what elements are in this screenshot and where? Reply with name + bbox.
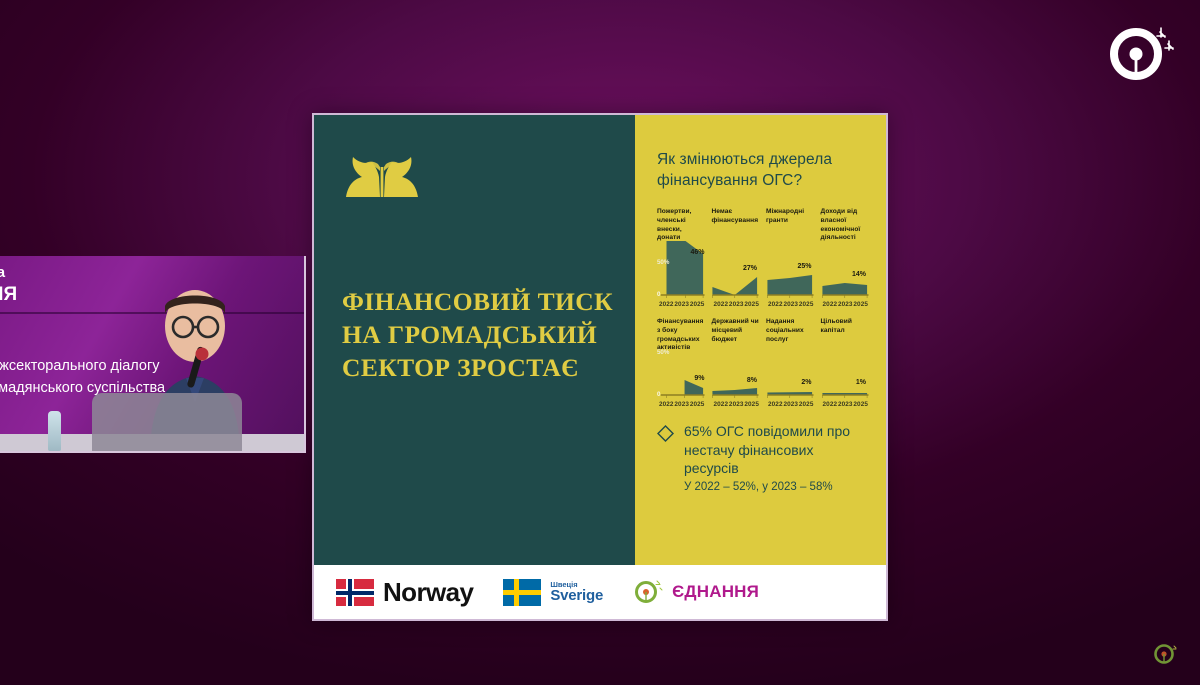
chart-plot: 1% (821, 347, 869, 399)
ednannia-mark-icon (633, 577, 663, 607)
slide-title-line-3: СЕКТОР ЗРОСТАЄ (342, 351, 613, 384)
bullet-text: 65% ОГС повідомили про нестачу фінансови… (684, 422, 868, 493)
chart-label: Пожертви, членські внески, донати (657, 208, 705, 235)
bullet-block: 65% ОГС повідомили про нестачу фінансови… (657, 422, 868, 493)
x-tick: 2023 (783, 401, 798, 408)
x-tick: 2025 (744, 401, 759, 408)
chart-plot: 50% 0 9% (657, 347, 705, 399)
x-tick: 2022 (713, 301, 728, 308)
x-tick: 2022 (768, 301, 783, 308)
chart-cell: Надання соціальних послуг 2% (766, 318, 814, 408)
x-tick: 2022 (823, 301, 838, 308)
sweden-logo: Швеція Sverige (503, 579, 603, 606)
chart-cell: Доходи від власної економічної діяльност… (821, 208, 869, 308)
chart-heading: Як змінюються джерела фінансування ОГС? (657, 149, 868, 192)
x-tick: 2025 (744, 301, 759, 308)
overlay-text-line-4: ромадянського суспільства (0, 380, 165, 396)
area-chart-svg (821, 347, 869, 399)
chart-label: Надання соціальних послуг (766, 318, 814, 345)
chart-label: Фінансування з боку громадських активіст… (657, 318, 705, 345)
chart-cell: Немає фінансування 27% (711, 208, 759, 308)
x-tick: 2022 (823, 401, 838, 408)
area-chart-svg (766, 347, 814, 399)
x-tick: 2023 (838, 301, 853, 308)
chart-cell: Пожертви, членські внески, донати 50% 0 … (657, 208, 705, 308)
chart-row-bottom: Фінансування з боку громадських активіст… (657, 318, 868, 408)
value-label: 46% (690, 249, 704, 256)
norway-logo: Norway (336, 577, 473, 608)
chart-plot: 50% 0 46% (657, 237, 705, 299)
chart-label: Державний чи місцевий бюджет (711, 318, 759, 345)
x-axis-ticks: 2022 2023 2025 (711, 399, 759, 408)
x-tick: 2023 (674, 301, 689, 308)
y-axis-label-50: 50% (657, 259, 669, 266)
x-tick: 2022 (659, 301, 674, 308)
x-tick: 2025 (853, 401, 868, 408)
x-axis-ticks: 2022 2023 2025 (821, 399, 869, 408)
value-label: 2% (801, 379, 811, 386)
ednannia-label: ЄДНАННЯ (672, 582, 759, 602)
value-label: 9% (694, 375, 704, 382)
chart-cell: Державний чи місцевий бюджет 8% (711, 318, 759, 408)
norway-label: Norway (383, 577, 473, 608)
slide-title-line-2: НА ГРОМАДСЬКИЙ (342, 318, 613, 351)
x-tick: 2023 (729, 301, 744, 308)
x-axis-ticks: 2022 2023 2025 (657, 299, 705, 308)
video-overlay[interactable]: ства ННЯ міжсекторального діалогу ромадя… (0, 256, 306, 453)
area-chart-svg (657, 237, 705, 299)
sweden-flag-icon (503, 579, 541, 606)
chair (92, 393, 242, 451)
chart-cell: Фінансування з боку громадських активіст… (657, 318, 705, 408)
slide-left-panel: ФІНАНСОВИЙ ТИСК НА ГРОМАДСЬКИЙ СЕКТОР ЗР… (314, 115, 635, 565)
x-tick: 2023 (729, 401, 744, 408)
x-tick: 2025 (799, 301, 814, 308)
value-label: 25% (798, 263, 812, 270)
slide-title-line-1: ФІНАНСОВИЙ ТИСК (342, 285, 613, 318)
chart-plot: 25% (766, 237, 814, 299)
slide-right-panel: Як змінюються джерела фінансування ОГС? … (635, 115, 886, 565)
chart-heading-line-1: Як змінюються джерела (657, 149, 868, 170)
value-label: 14% (852, 271, 866, 278)
value-label: 27% (743, 265, 757, 272)
chart-label: Немає фінансування (711, 208, 759, 235)
chart-plot: 14% (821, 237, 869, 299)
x-axis-ticks: 2022 2023 2025 (766, 299, 814, 308)
bullet-main-text: 65% ОГС повідомили про нестачу фінансови… (684, 422, 868, 478)
x-axis-ticks: 2022 2023 2025 (766, 399, 814, 408)
diamond-icon (657, 425, 674, 442)
slide-body: ФІНАНСОВИЙ ТИСК НА ГРОМАДСЬКИЙ СЕКТОР ЗР… (314, 115, 886, 565)
x-tick: 2023 (674, 401, 689, 408)
x-tick: 2023 (838, 401, 853, 408)
sweden-label-sv: Sverige (550, 588, 603, 603)
ednannia-logo: ЄДНАННЯ (633, 577, 759, 607)
area-chart-svg (711, 347, 759, 399)
chart-label: Міжнародні гранти (766, 208, 814, 235)
chart-heading-line-2: фінансування ОГС? (657, 170, 868, 191)
x-tick: 2022 (768, 401, 783, 408)
chart-label: Цільовий капітал (821, 318, 869, 345)
y-axis-label-50: 50% (657, 349, 669, 356)
overlay-text-line-3: міжсекторального діалогу (0, 358, 160, 374)
screen: ФІНАНСОВИЙ ТИСК НА ГРОМАДСЬКИЙ СЕКТОР ЗР… (0, 0, 1200, 685)
x-tick: 2022 (713, 401, 728, 408)
presentation-slide: ФІНАНСОВИЙ ТИСК НА ГРОМАДСЬКИЙ СЕКТОР ЗР… (312, 113, 888, 621)
dandelion-logo (1098, 14, 1182, 98)
chart-plot: 2% (766, 347, 814, 399)
bullet-sub-text: У 2022 – 52%, у 2023 – 58% (684, 481, 868, 493)
x-tick: 2025 (690, 401, 705, 408)
overlay-text-line-2: ННЯ (0, 284, 17, 306)
water-bottle (48, 411, 61, 451)
x-axis-ticks: 2022 2023 2025 (657, 399, 705, 408)
x-tick: 2023 (783, 301, 798, 308)
chart-cell: Міжнародні гранти 25% (766, 208, 814, 308)
chart-plot: 8% (711, 347, 759, 399)
sweden-label: Швеція Sverige (550, 581, 603, 604)
x-tick: 2025 (799, 401, 814, 408)
value-label: 8% (747, 377, 757, 384)
norway-flag-icon (336, 579, 374, 606)
twin-griffin-logo (342, 149, 422, 201)
area-chart-svg (821, 237, 869, 299)
y-axis-label-0: 0 (657, 391, 660, 398)
chart-row-top: Пожертви, членські внески, донати 50% 0 … (657, 208, 868, 308)
chart-plot: 27% (711, 237, 759, 299)
slide-title: ФІНАНСОВИЙ ТИСК НА ГРОМАДСЬКИЙ СЕКТОР ЗР… (342, 285, 613, 384)
x-tick: 2025 (690, 301, 705, 308)
x-tick: 2025 (853, 301, 868, 308)
x-tick: 2022 (659, 401, 674, 408)
overlay-text-line-1: ства (0, 264, 5, 281)
y-axis-label-0: 0 (657, 291, 660, 298)
chart-cell: Цільовий капітал 1% (821, 318, 869, 408)
value-label: 1% (856, 379, 866, 386)
chart-label: Доходи від власної економічної діяльност… (821, 208, 869, 235)
dandelion-corner-logo (1152, 641, 1178, 667)
x-axis-ticks: 2022 2023 2025 (821, 299, 869, 308)
slide-footer: Norway Швеція Sverige (314, 565, 886, 619)
x-axis-ticks: 2022 2023 2025 (711, 299, 759, 308)
